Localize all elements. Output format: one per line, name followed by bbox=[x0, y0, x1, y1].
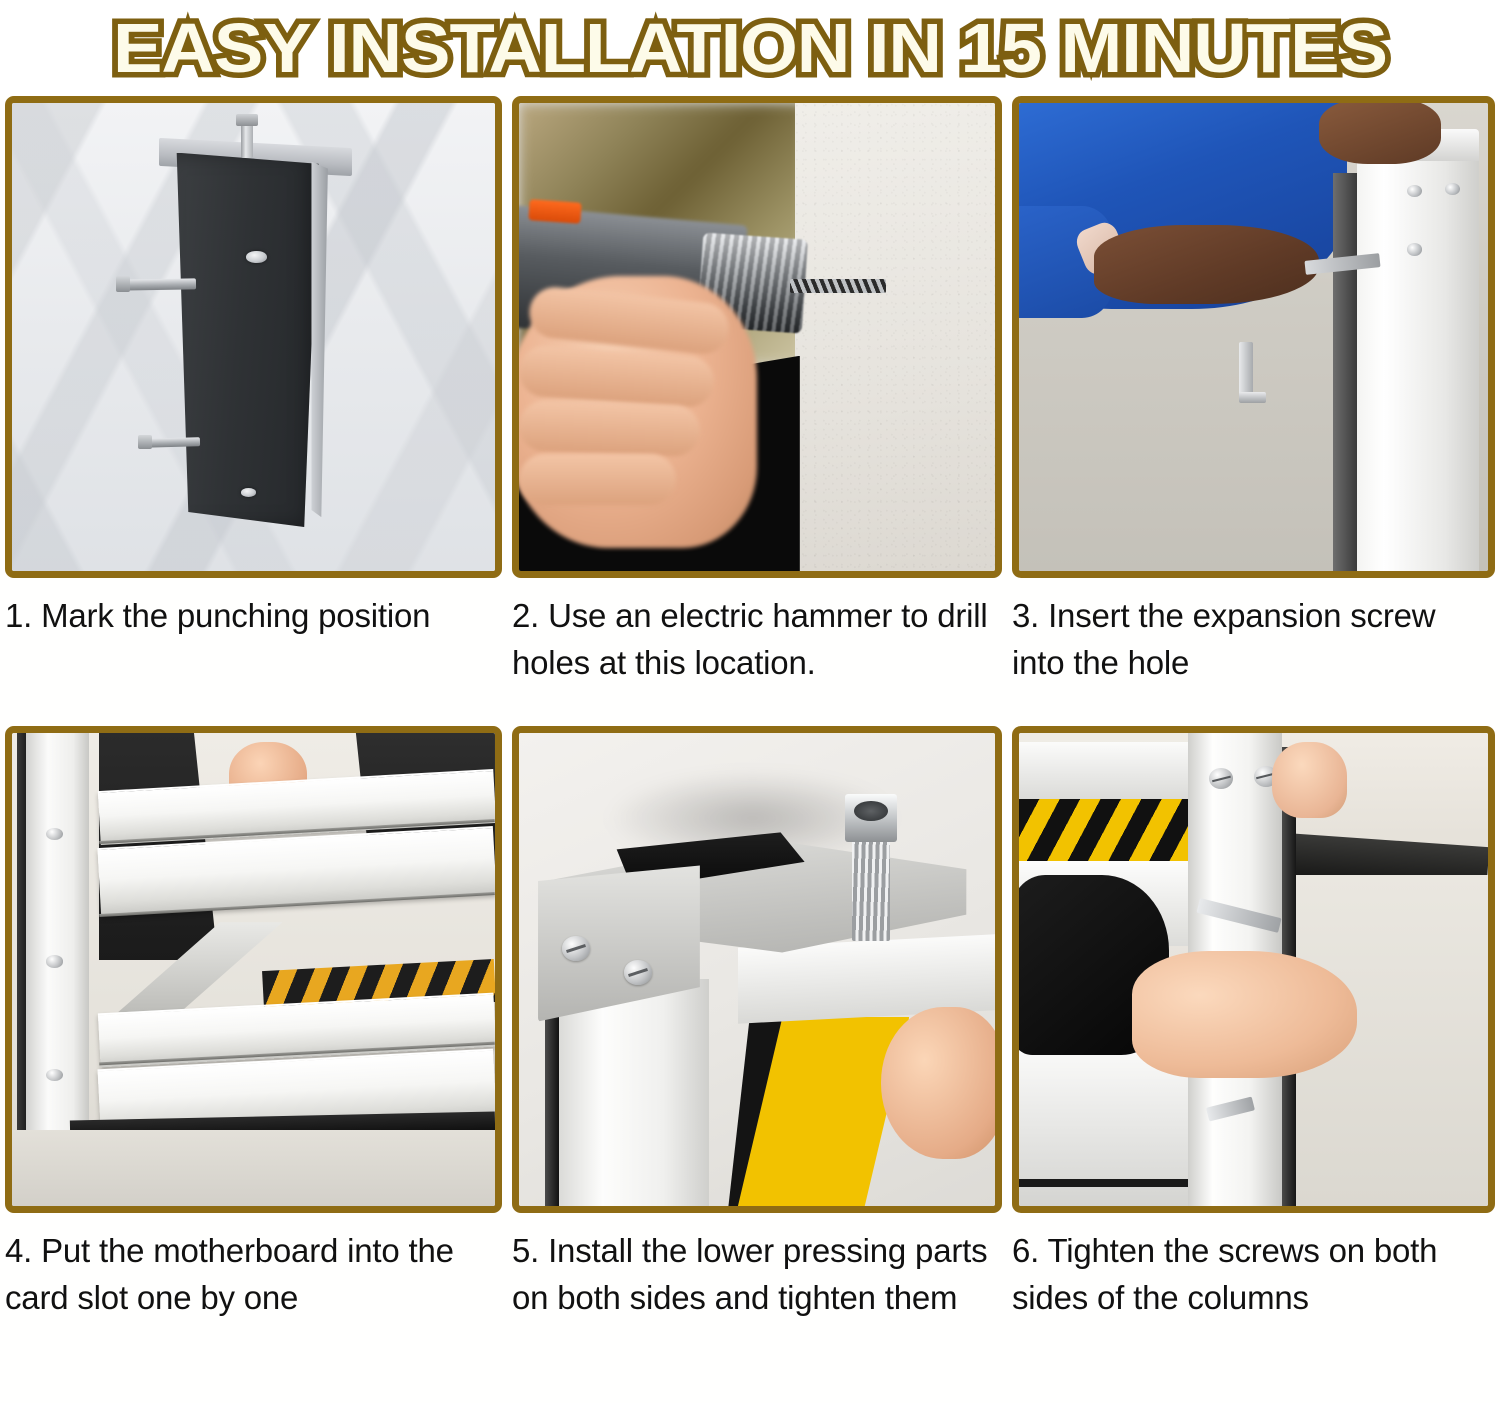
step-card-4: 4. Put the motherboard into the card slo… bbox=[0, 726, 512, 1351]
scene-bracket-on-fabric bbox=[12, 103, 495, 571]
step-card-6: 6. Tighten the screws on both sides of t… bbox=[1012, 726, 1500, 1351]
step-card-5: 5. Install the lower pressing parts on b… bbox=[512, 726, 1012, 1351]
step-photo-6 bbox=[1012, 726, 1495, 1213]
dark-column-body bbox=[174, 153, 319, 527]
hazard-stripe-band bbox=[1019, 799, 1188, 860]
masonry-drill-bit bbox=[790, 279, 885, 294]
steps-row-top: 1. Mark the punching position bbox=[0, 96, 1500, 726]
scene-drilling-wall bbox=[519, 103, 995, 571]
step-card-1: 1. Mark the punching position bbox=[0, 96, 512, 726]
step-card-3: 3. Insert the expansion screw into the h… bbox=[1012, 96, 1500, 726]
title-banner: EASY INSTALLATION IN 15 MINUTES bbox=[0, 0, 1500, 96]
finger-3 bbox=[519, 399, 701, 457]
step-caption-2: 2. Use an electric hammer to drill holes… bbox=[512, 592, 1002, 686]
step-photo-4 bbox=[5, 726, 502, 1213]
scene-tighten-screws bbox=[1019, 733, 1488, 1206]
installer-fingers bbox=[881, 1007, 995, 1158]
step-photo-2 bbox=[512, 96, 1002, 578]
step-caption-6: 6. Tighten the screws on both sides of t… bbox=[1012, 1227, 1495, 1321]
post-screw-2 bbox=[46, 955, 63, 967]
column-screw-3 bbox=[1407, 243, 1422, 255]
hex-bolt-thread bbox=[852, 837, 890, 941]
installation-steps-grid: 1. Mark the punching position bbox=[0, 96, 1500, 1403]
middle-bolt-shaft bbox=[121, 278, 196, 290]
scene-expansion-screw bbox=[1019, 103, 1488, 571]
mounting-hole-upper bbox=[246, 251, 266, 262]
pressing-plate-screw-2 bbox=[624, 960, 653, 985]
white-textured-wall bbox=[795, 103, 995, 571]
step-photo-3 bbox=[1012, 96, 1495, 578]
tightening-hand bbox=[1132, 951, 1357, 1079]
steps-row-bottom: 4. Put the motherboard into the card slo… bbox=[0, 726, 1500, 1351]
post-screw-1 bbox=[46, 828, 63, 840]
lower-bolt-head bbox=[138, 435, 152, 449]
column-post-left bbox=[26, 733, 89, 1149]
scene-pressing-bracket bbox=[519, 733, 995, 1206]
allen-key-on-floor bbox=[1239, 342, 1253, 403]
white-aluminium-column bbox=[1357, 136, 1479, 571]
step-caption-4: 4. Put the motherboard into the card slo… bbox=[5, 1227, 502, 1321]
barrier-board-top bbox=[1019, 742, 1188, 803]
pressing-plate-screw-1 bbox=[562, 936, 591, 961]
floor-surface bbox=[12, 1130, 495, 1206]
column-dark-edge bbox=[1333, 173, 1356, 571]
middle-bolt-head bbox=[116, 276, 130, 291]
step-caption-3: 3. Insert the expansion screw into the h… bbox=[1012, 592, 1495, 686]
white-column-body bbox=[557, 979, 709, 1206]
scene-boards-into-slot bbox=[12, 733, 495, 1206]
mounting-hole-lower bbox=[241, 488, 256, 496]
drill-trigger-orange bbox=[528, 199, 582, 224]
finger-4 bbox=[519, 454, 676, 505]
step-card-2: 2. Use an electric hammer to drill holes… bbox=[512, 96, 1012, 726]
step-caption-5: 5. Install the lower pressing parts on b… bbox=[512, 1227, 1002, 1321]
column-screw-2 bbox=[1445, 183, 1460, 195]
step-photo-5 bbox=[512, 726, 1002, 1213]
step-photo-1 bbox=[5, 96, 502, 578]
top-bolt-head bbox=[236, 114, 258, 126]
steadying-hand bbox=[1272, 742, 1347, 818]
hex-bolt-head bbox=[845, 794, 897, 841]
step-caption-1: 1. Mark the punching position bbox=[5, 592, 502, 639]
page-title: EASY INSTALLATION IN 15 MINUTES bbox=[113, 12, 1387, 84]
worker-forearm bbox=[1094, 225, 1319, 305]
worker-upper-hand bbox=[1319, 103, 1441, 164]
